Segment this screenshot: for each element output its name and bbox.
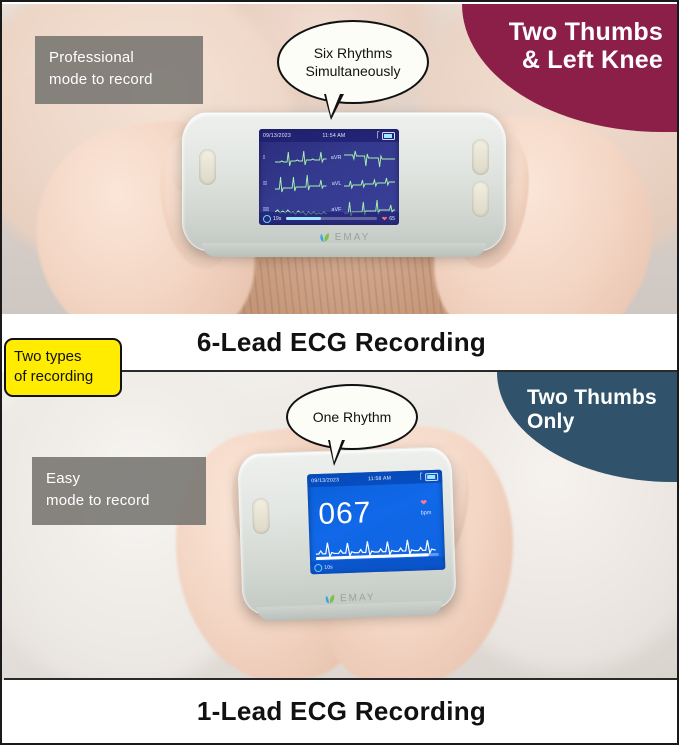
lead-row: I aVR xyxy=(263,145,395,171)
bottom-panel: 09/13/2023 11:58 AM ⎡ 067 ❤ bpm xyxy=(2,372,677,680)
easy-mode-line1: Easy xyxy=(46,468,192,490)
bluetooth-icon: ⎡ xyxy=(377,132,380,139)
device-lip xyxy=(202,243,485,257)
bubble-bottom-tail xyxy=(328,440,345,466)
ecg-device-6lead: 09/13/2023 11:54 AM ⎡ I aV xyxy=(182,112,506,251)
bpm-value: 067 xyxy=(318,498,372,530)
easy-mode-box: Easy mode to record xyxy=(32,457,206,525)
electrode-right-lower[interactable] xyxy=(472,181,489,217)
electrode-left[interactable] xyxy=(199,149,216,185)
bpm-label: bpm xyxy=(421,510,432,516)
lead-label-II: II xyxy=(263,181,275,187)
easy-mode-line2: mode to record xyxy=(46,490,192,512)
emay-logo-icon xyxy=(323,592,336,605)
heart-icon: ❤ xyxy=(382,215,387,223)
screen-status-bar: 09/13/2023 11:58 AM ⎡ xyxy=(307,470,442,488)
ecg-waveform-I xyxy=(275,146,327,170)
bubble-bottom-line1: One Rhythm xyxy=(313,408,392,426)
clock-icon xyxy=(263,215,271,223)
emay-logo-text: EMAY xyxy=(340,592,376,604)
ecg-waveform-aVL xyxy=(344,172,396,196)
ecg-device-1lead: 09/13/2023 11:58 AM ⎡ 067 ❤ bpm xyxy=(237,446,457,615)
electrode-right-upper[interactable] xyxy=(472,139,489,175)
screen-bottom-bar: 19s ❤ 65 xyxy=(259,212,399,225)
top-panel-photo: 09/13/2023 11:54 AM ⎡ I aV xyxy=(2,4,677,314)
screen-status-bar: 09/13/2023 11:54 AM ⎡ xyxy=(259,129,399,142)
bottom-panel-photo: 09/13/2023 11:58 AM ⎡ 067 ❤ bpm xyxy=(2,372,677,680)
device-screen-6lead: 09/13/2023 11:54 AM ⎡ I aV xyxy=(259,129,399,225)
device-brand-6lead: EMAY xyxy=(183,231,505,244)
bubble-six-rhythms: Six Rhythms Simultaneously xyxy=(277,20,429,104)
recording-progress-bar xyxy=(286,217,376,220)
infographic-root: 09/13/2023 11:54 AM ⎡ I aV xyxy=(0,0,679,745)
professional-mode-box: Professional mode to record xyxy=(35,36,203,104)
screen-time: 11:58 AM xyxy=(368,475,391,482)
callout-line2: of recording xyxy=(14,367,112,387)
electrode-left[interactable] xyxy=(252,498,270,535)
clock-icon xyxy=(314,563,322,571)
badge-top-line1: Two Thumbs xyxy=(496,18,663,46)
screen-time: 11:54 AM xyxy=(322,133,345,139)
screen-date: 09/13/2023 xyxy=(263,133,291,139)
battery-icon xyxy=(382,132,395,140)
badge-bottom-line2: Only xyxy=(527,410,661,434)
device-screen-1lead: 09/13/2023 11:58 AM ⎡ 067 ❤ bpm xyxy=(307,470,445,575)
screen-date: 09/13/2023 xyxy=(311,477,339,484)
ecg-leads-grid: I aVR II xyxy=(259,142,399,212)
heart-icon: ❤ xyxy=(420,498,427,507)
battery-icon xyxy=(425,472,438,480)
lead-label-aVR: aVR xyxy=(327,155,344,161)
caption-1-lead-text: 1-Lead ECG Recording xyxy=(197,696,486,727)
emay-logo-text: EMAY xyxy=(335,232,371,243)
bubble-top-tail xyxy=(324,94,344,120)
bubble-top-line2: Simultaneously xyxy=(306,62,401,80)
top-panel: 09/13/2023 11:54 AM ⎡ I aV xyxy=(2,4,677,314)
badge-bottom-line1: Two Thumbs xyxy=(527,386,661,410)
ecg-waveform-aVR xyxy=(344,146,396,170)
recording-timer: 19s xyxy=(273,216,281,222)
lead-label-I: I xyxy=(263,155,275,161)
badge-top-line2: & Left Knee xyxy=(496,46,663,74)
bubble-top-line1: Six Rhythms xyxy=(306,44,401,62)
caption-6-lead-text: 6-Lead ECG Recording xyxy=(197,327,486,358)
heart-rate-value: 65 xyxy=(389,216,395,222)
recording-timer: 10s xyxy=(324,564,333,570)
professional-mode-line2: mode to record xyxy=(49,69,189,91)
professional-mode-line1: Professional xyxy=(49,47,189,69)
ecg-waveform-II xyxy=(275,172,327,196)
lead-row: II aVL xyxy=(263,171,395,197)
callout-two-types: Two types of recording xyxy=(4,338,122,397)
callout-line1: Two types xyxy=(14,347,112,367)
caption-1-lead: 1-Lead ECG Recording xyxy=(4,680,679,743)
bubble-one-rhythm: One Rhythm xyxy=(286,384,418,450)
emay-logo-icon xyxy=(318,231,331,244)
bluetooth-icon: ⎡ xyxy=(420,473,423,480)
lead-label-aVL: aVL xyxy=(327,181,344,187)
